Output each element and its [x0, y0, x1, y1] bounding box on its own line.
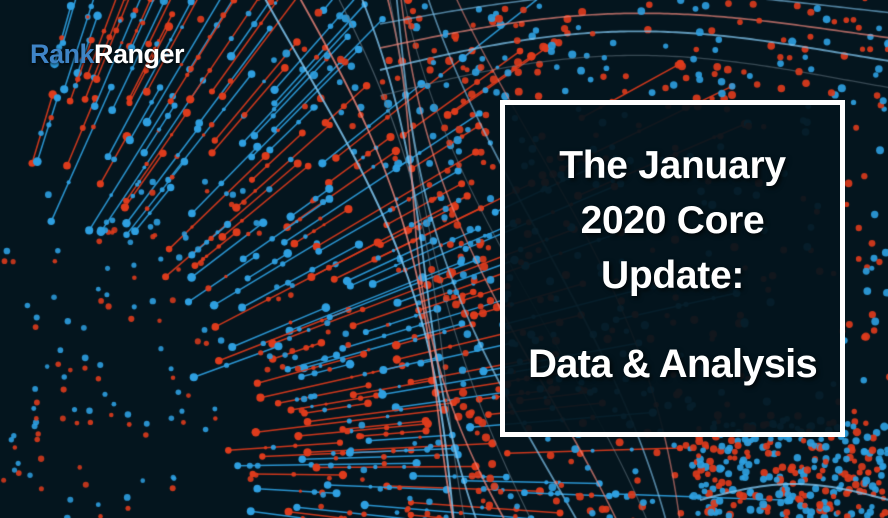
- logo-text-rank: Rank: [30, 39, 94, 69]
- rankranger-logo[interactable]: RankRanger: [30, 41, 184, 68]
- logo-text-ranger: Ranger: [94, 39, 184, 69]
- title-line-3: Update:: [505, 248, 840, 303]
- promo-banner: RankRanger The January 2020 Core Update:…: [0, 0, 888, 518]
- title-lines: The January 2020 Core Update: Data & Ana…: [505, 138, 840, 392]
- title-subtitle: Data & Analysis: [505, 337, 840, 392]
- title-line-1: The January: [505, 138, 840, 193]
- title-line-2: 2020 Core: [505, 193, 840, 248]
- title-spacer: [505, 303, 840, 337]
- title-card: The January 2020 Core Update: Data & Ana…: [500, 100, 845, 437]
